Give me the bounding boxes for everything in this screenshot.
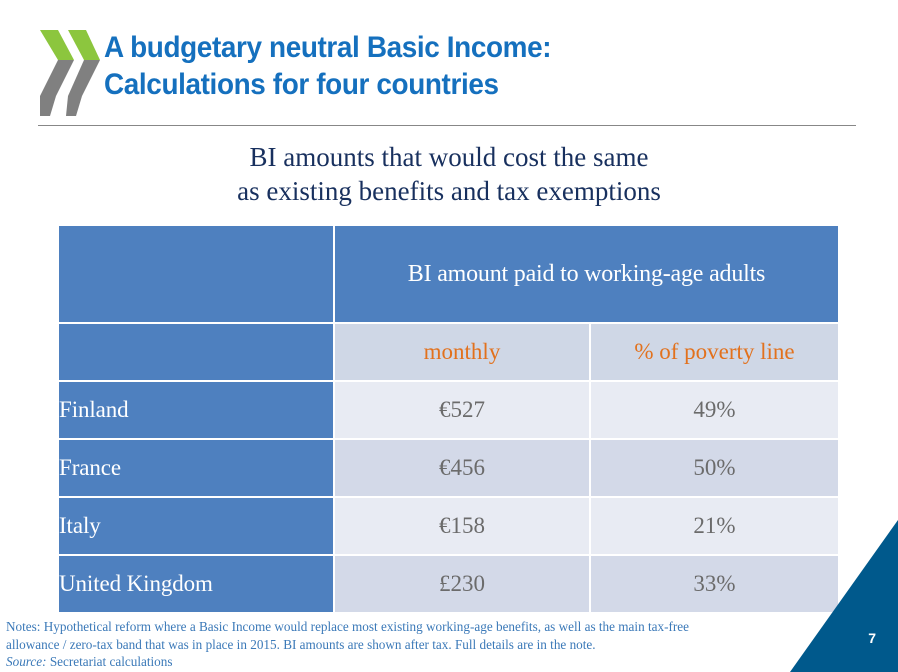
cell-monthly: €527 — [335, 382, 589, 438]
chevron-2-gray-lower — [68, 60, 100, 96]
cell-poverty: 49% — [591, 382, 838, 438]
column-header-monthly: monthly — [335, 324, 589, 380]
title-line-2: Calculations for four countries — [104, 66, 792, 103]
double-chevron-logo — [38, 28, 100, 118]
cell-country: Finland — [59, 382, 333, 438]
cell-poverty: 33% — [591, 556, 838, 612]
table-row: Italy €158 21% — [59, 498, 838, 554]
chevron-2-gray-tail — [66, 96, 82, 116]
cell-poverty: 21% — [591, 498, 838, 554]
source-label: Source: — [6, 654, 47, 669]
table-row: United Kingdom £230 33% — [59, 556, 838, 612]
footnote-line-1: Notes: Hypothetical reform where a Basic… — [6, 618, 816, 636]
bi-amounts-table: BI amount paid to working-age adults mon… — [57, 224, 840, 614]
chevron-1-gray-lower — [40, 60, 74, 96]
title-line-1: A budgetary neutral Basic Income: — [104, 29, 792, 66]
column-header-poverty-line: % of poverty line — [591, 324, 838, 380]
chevron-2-green-upper — [68, 30, 100, 60]
chevron-1-gray-tail — [40, 96, 56, 116]
cell-monthly: £230 — [335, 556, 589, 612]
header-corner-blank — [59, 226, 333, 322]
table-header-row-group: BI amount paid to working-age adults — [59, 226, 838, 322]
cell-poverty: 50% — [591, 440, 838, 496]
table-header-row-columns: monthly % of poverty line — [59, 324, 838, 380]
cell-monthly: €456 — [335, 440, 589, 496]
cell-country: Italy — [59, 498, 333, 554]
table-row: France €456 50% — [59, 440, 838, 496]
subtitle-line-1: BI amounts that would cost the same — [0, 140, 898, 174]
slide-title: A budgetary neutral Basic Income: Calcul… — [104, 29, 844, 103]
cell-country: United Kingdom — [59, 556, 333, 612]
page-number: 7 — [868, 630, 876, 646]
title-divider — [38, 125, 856, 126]
cell-country: France — [59, 440, 333, 496]
footnote-block: Notes: Hypothetical reform where a Basic… — [6, 618, 816, 671]
header-group-label: BI amount paid to working-age adults — [335, 226, 838, 322]
slide-canvas: A budgetary neutral Basic Income: Calcul… — [0, 0, 898, 672]
footnote-source: Source: Secretariat calculations — [6, 653, 816, 671]
cell-monthly: €158 — [335, 498, 589, 554]
chevron-1-green-upper — [40, 30, 74, 60]
subtitle-line-2: as existing benefits and tax exemptions — [0, 174, 898, 208]
column-header-country-blank — [59, 324, 333, 380]
source-text: Secretariat calculations — [47, 654, 173, 669]
table-row: Finland €527 49% — [59, 382, 838, 438]
slide-subtitle: BI amounts that would cost the same as e… — [0, 140, 898, 208]
footnote-line-2: allowance / zero-tax band that was in pl… — [6, 636, 816, 654]
